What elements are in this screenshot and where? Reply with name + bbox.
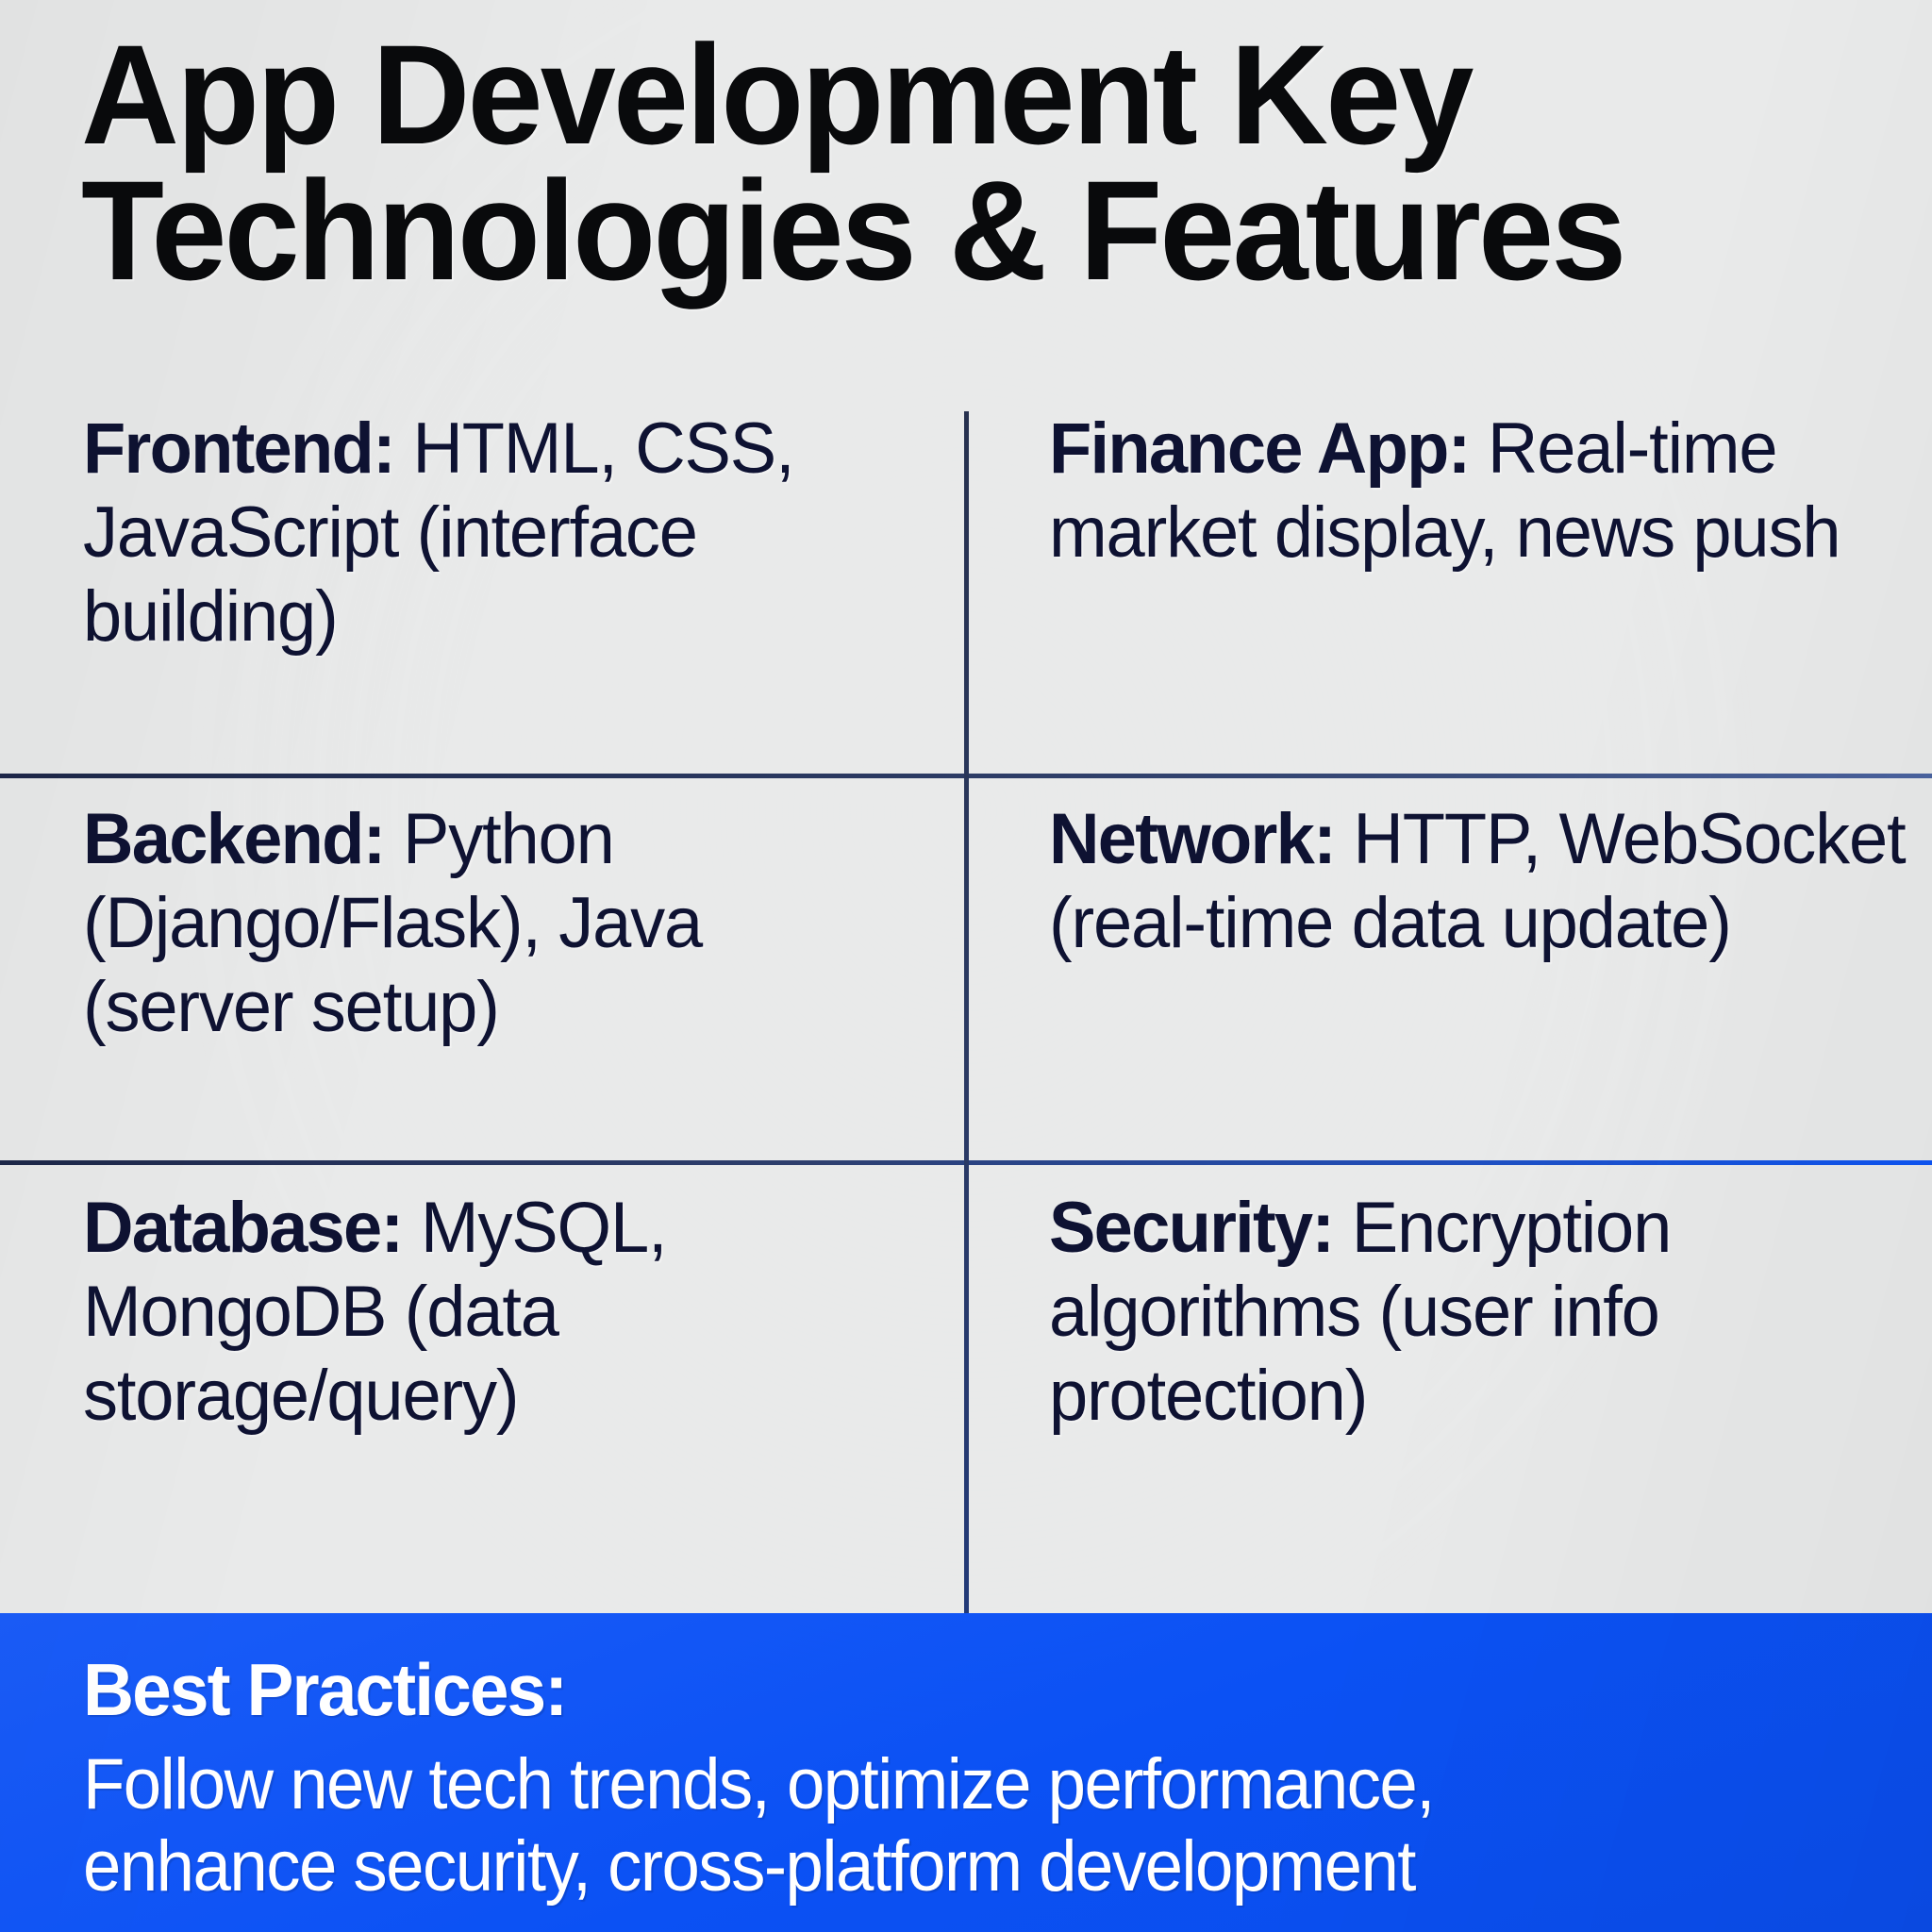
banner-body-text: Follow new tech trends, optimize perform… — [83, 1743, 1795, 1908]
cell-label-database: Database: — [83, 1188, 402, 1268]
cell-label-finance-app: Finance App: — [1049, 408, 1470, 489]
technology-grid: Frontend: HTML, CSS, JavaScript (interfa… — [0, 408, 1932, 1613]
infographic-poster: App Development Key Technologies & Featu… — [0, 0, 1932, 1932]
grid-cell-network: Network: HTTP, WebSocket (real-time data… — [1049, 798, 1910, 966]
cell-label-frontend: Frontend: — [83, 408, 394, 489]
cell-label-network: Network: — [1049, 799, 1335, 879]
title-block: App Development Key Technologies & Featu… — [81, 26, 1874, 298]
grid-cell-security: Security: Encryption algorithms (user in… — [1049, 1187, 1910, 1439]
cell-label-backend: Backend: — [83, 799, 385, 879]
cell-label-security: Security: — [1049, 1188, 1333, 1268]
grid-cell-frontend: Frontend: HTML, CSS, JavaScript (interfa… — [83, 408, 911, 659]
grid-cell-backend: Backend: Python (Django/Flask), Java (se… — [83, 798, 911, 1050]
grid-cell-database: Database: MySQL, MongoDB (data storage/q… — [83, 1187, 911, 1439]
banner-heading: Best Practices: — [83, 1653, 1804, 1728]
best-practices-banner: Best Practices: Follow new tech trends, … — [0, 1613, 1932, 1932]
page-title: App Development Key Technologies & Featu… — [81, 26, 1802, 298]
grid-cell-finance-app: Finance App: Real-time market display, n… — [1049, 408, 1910, 575]
grid-divider-vertical — [964, 411, 969, 1613]
